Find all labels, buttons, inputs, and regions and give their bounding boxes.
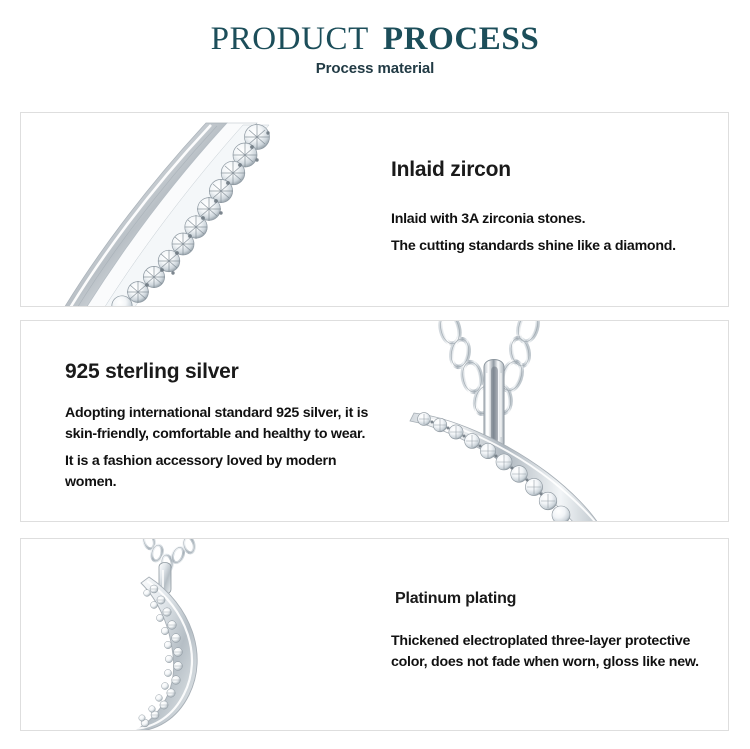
pendant-bail-chain-illustration [388,321,728,521]
page-subtitle: Process material [0,60,750,77]
panel-3-body: Thickened electroplated three-layer prot… [391,631,721,673]
page-header: PRODUCTPROCESS Process material [0,0,750,112]
panel-2-body-line-2: It is a fashion accessory loved by moder… [65,451,390,493]
product-image-full-crescent-pendant [21,539,376,730]
panel-3-heading: Platinum plating [395,589,516,609]
panel-2-body: Adopting international standard 925 silv… [65,403,390,493]
panel-1-text-block: Inlaid zircon Inlaid with 3A zirconia st… [369,113,714,306]
panel-1-body-line-2: The cutting standards shine like a diamo… [391,236,721,257]
panel-3-text-block: Platinum plating Thickened electroplated… [369,539,714,730]
product-image-pave-zircon-closeup [21,113,376,306]
page-title-part-two: PROCESS [383,21,539,57]
panel-2-text-block: 925 sterling silver Adopting internation… [43,321,403,521]
feature-panel-inlaid-zircon: Inlaid zircon Inlaid with 3A zirconia st… [20,112,729,307]
panel-2-body-line-1: Adopting international standard 925 silv… [65,403,390,445]
crescent-moon-pendant-illustration [21,539,376,730]
panel-1-heading: Inlaid zircon [391,157,511,182]
pave-zircon-crescent-illustration [21,113,376,306]
panel-1-body-line-1: Inlaid with 3A zirconia stones. [391,209,721,230]
feature-panel-925-sterling-silver: 925 sterling silver Adopting internation… [20,320,729,522]
panel-1-body: Inlaid with 3A zirconia stones. The cutt… [391,209,721,257]
page-title: PRODUCTPROCESS [0,20,750,58]
feature-panel-platinum-plating: Platinum plating Thickened electroplated… [20,538,729,731]
panel-3-body-line-1: Thickened electroplated three-layer prot… [391,631,721,673]
product-image-bail-and-chain [388,321,728,521]
page-title-part-one: PRODUCT [211,21,369,57]
panel-2-heading: 925 sterling silver [65,359,239,384]
